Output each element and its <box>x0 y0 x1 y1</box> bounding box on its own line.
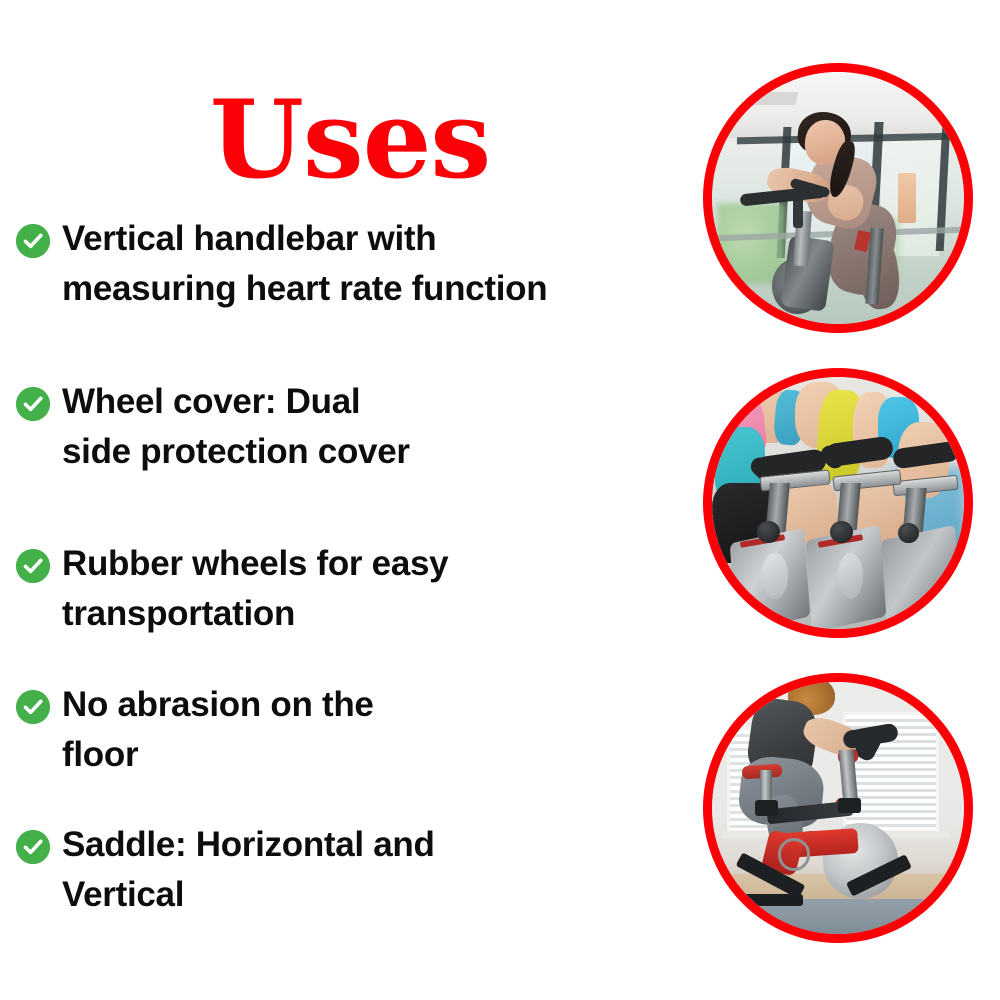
photo-spin-class-bikes <box>703 368 973 638</box>
poster-canvas: Uses Vertical handlebar with measuring h… <box>0 0 1000 1000</box>
check-circle-icon <box>16 224 50 258</box>
list-item-label: Vertical handlebar with measuring heart … <box>62 214 702 314</box>
check-circle-icon <box>16 549 50 583</box>
photo-content <box>712 682 964 934</box>
list-item-label: Wheel cover: Dual side protection cover <box>62 377 702 477</box>
photo-woman-spin-bike-gym <box>703 63 973 333</box>
photo-home-spin-bike <box>703 673 973 943</box>
check-circle-icon <box>16 387 50 421</box>
photo-content <box>712 377 964 629</box>
check-circle-icon <box>16 830 50 864</box>
list-item-label: Saddle: Horizontal and Vertical <box>62 820 702 920</box>
list-item-label: Rubber wheels for easy transportation <box>62 539 702 639</box>
photo-content <box>712 72 964 324</box>
page-title: Uses <box>0 86 700 194</box>
list-item-label: No abrasion on the floor <box>62 680 702 780</box>
check-circle-icon <box>16 690 50 724</box>
